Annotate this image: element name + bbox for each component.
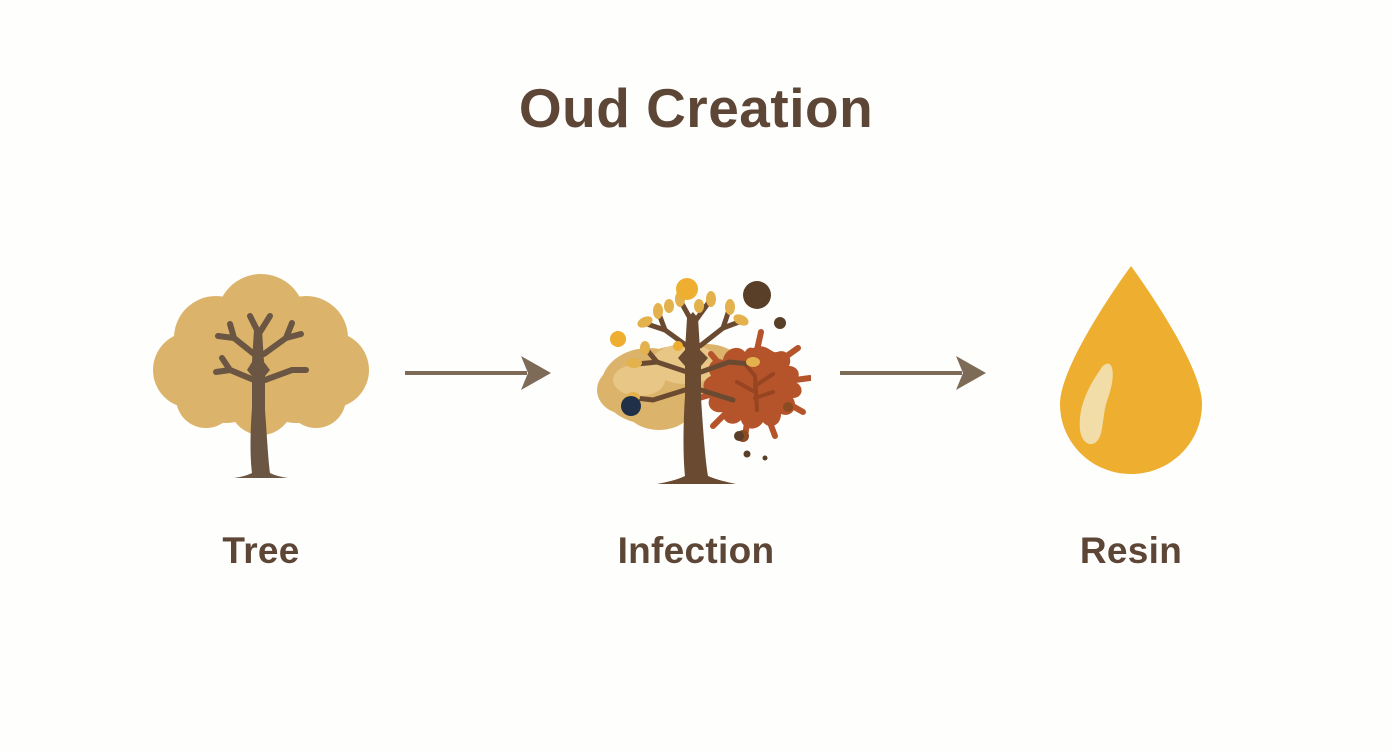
arrow-right-icon: [399, 348, 559, 398]
stage-infection: Infection: [561, 258, 831, 572]
arrow-tree-to-infection: [396, 258, 561, 488]
droplet-body: [1060, 266, 1202, 474]
infected-tree-icon-svg: [581, 258, 811, 488]
tree-icon-svg: [146, 258, 376, 488]
stage-tree: Tree: [126, 258, 396, 572]
page-title: Oud Creation: [0, 78, 1392, 139]
stage-label-tree: Tree: [222, 530, 299, 572]
arrow-right-icon: [834, 348, 994, 398]
infected-tree-icon: [581, 258, 811, 488]
arrow-infection-to-resin: [831, 258, 996, 488]
stage-label-resin: Resin: [1080, 530, 1182, 572]
stage-resin: Resin: [996, 258, 1266, 572]
resin-droplet-icon: [1016, 258, 1246, 488]
diagram-canvas: Oud Creation: [0, 0, 1392, 752]
tree-icon: [146, 258, 376, 488]
process-flow-row: Tree: [0, 258, 1392, 598]
stage-label-infection: Infection: [618, 530, 775, 572]
resin-droplet-icon-svg: [1016, 258, 1246, 488]
